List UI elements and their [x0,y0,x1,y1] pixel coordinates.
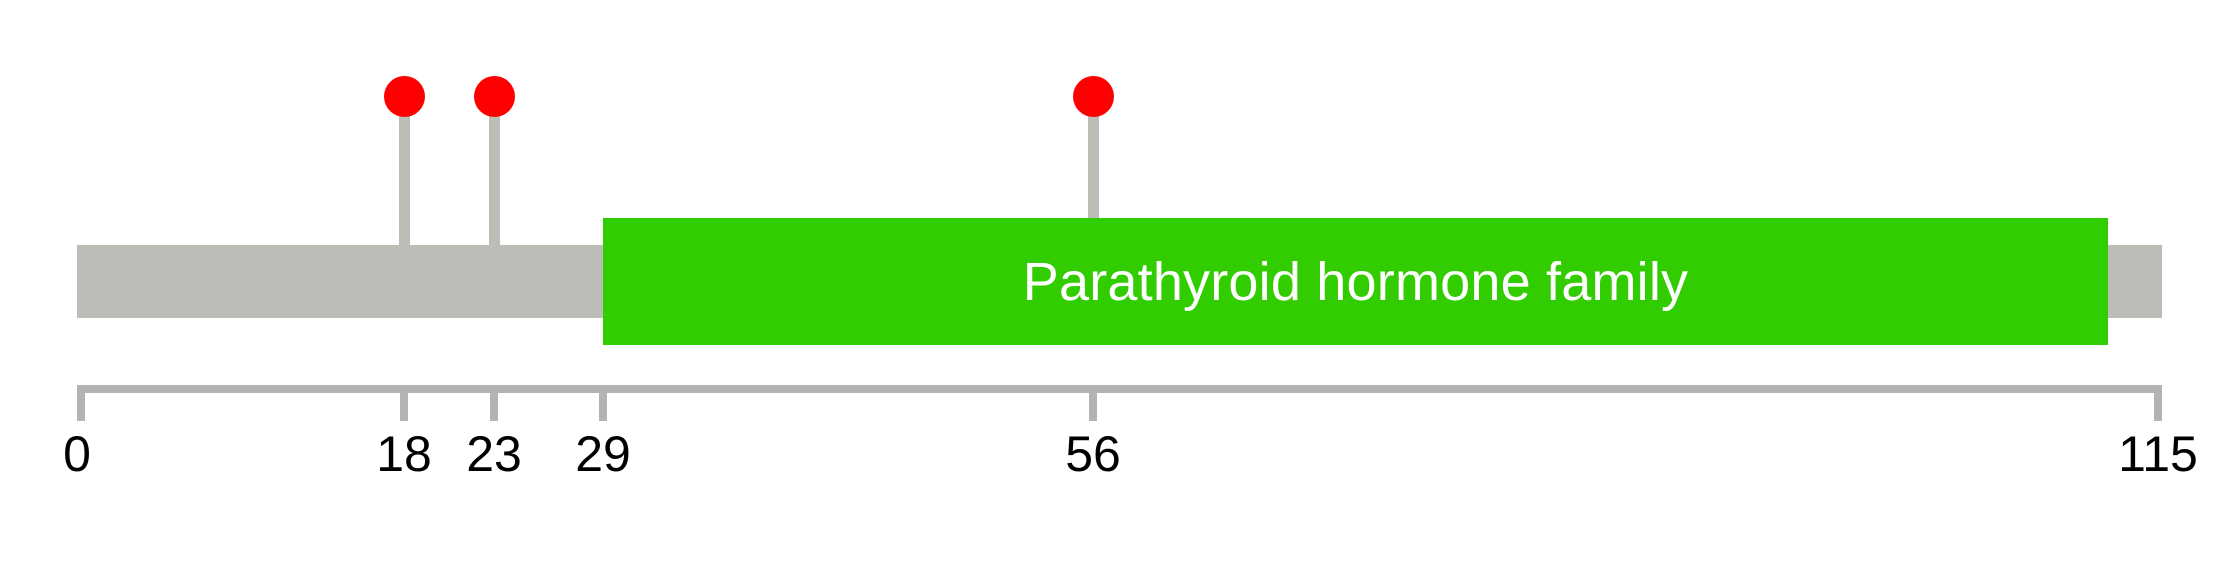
axis-label-29: 29 [575,429,631,479]
axis-tick-56 [1089,385,1097,421]
axis-tick-0 [77,385,85,421]
axis-baseline [77,385,2162,393]
domain-parathyroid-hormone-family[interactable]: Parathyroid hormone family [603,218,2108,345]
lollipop-marker-56[interactable] [1073,76,1114,117]
axis-tick-115 [2154,385,2162,421]
axis-tick-29 [599,385,607,421]
lollipop-marker-23[interactable] [474,76,515,117]
axis-label-18: 18 [376,429,432,479]
axis-label-0: 0 [63,429,91,479]
axis-label-56: 56 [1065,429,1121,479]
domain-label: Parathyroid hormone family [1023,255,1689,309]
axis-tick-18 [400,385,408,421]
axis-label-115: 115 [2118,429,2198,479]
axis-tick-23 [490,385,498,421]
protein-domain-lollipop-plot: Parathyroid hormone family 0 18 23 29 56… [0,0,2239,578]
axis-label-23: 23 [466,429,522,479]
lollipop-marker-18[interactable] [384,76,425,117]
